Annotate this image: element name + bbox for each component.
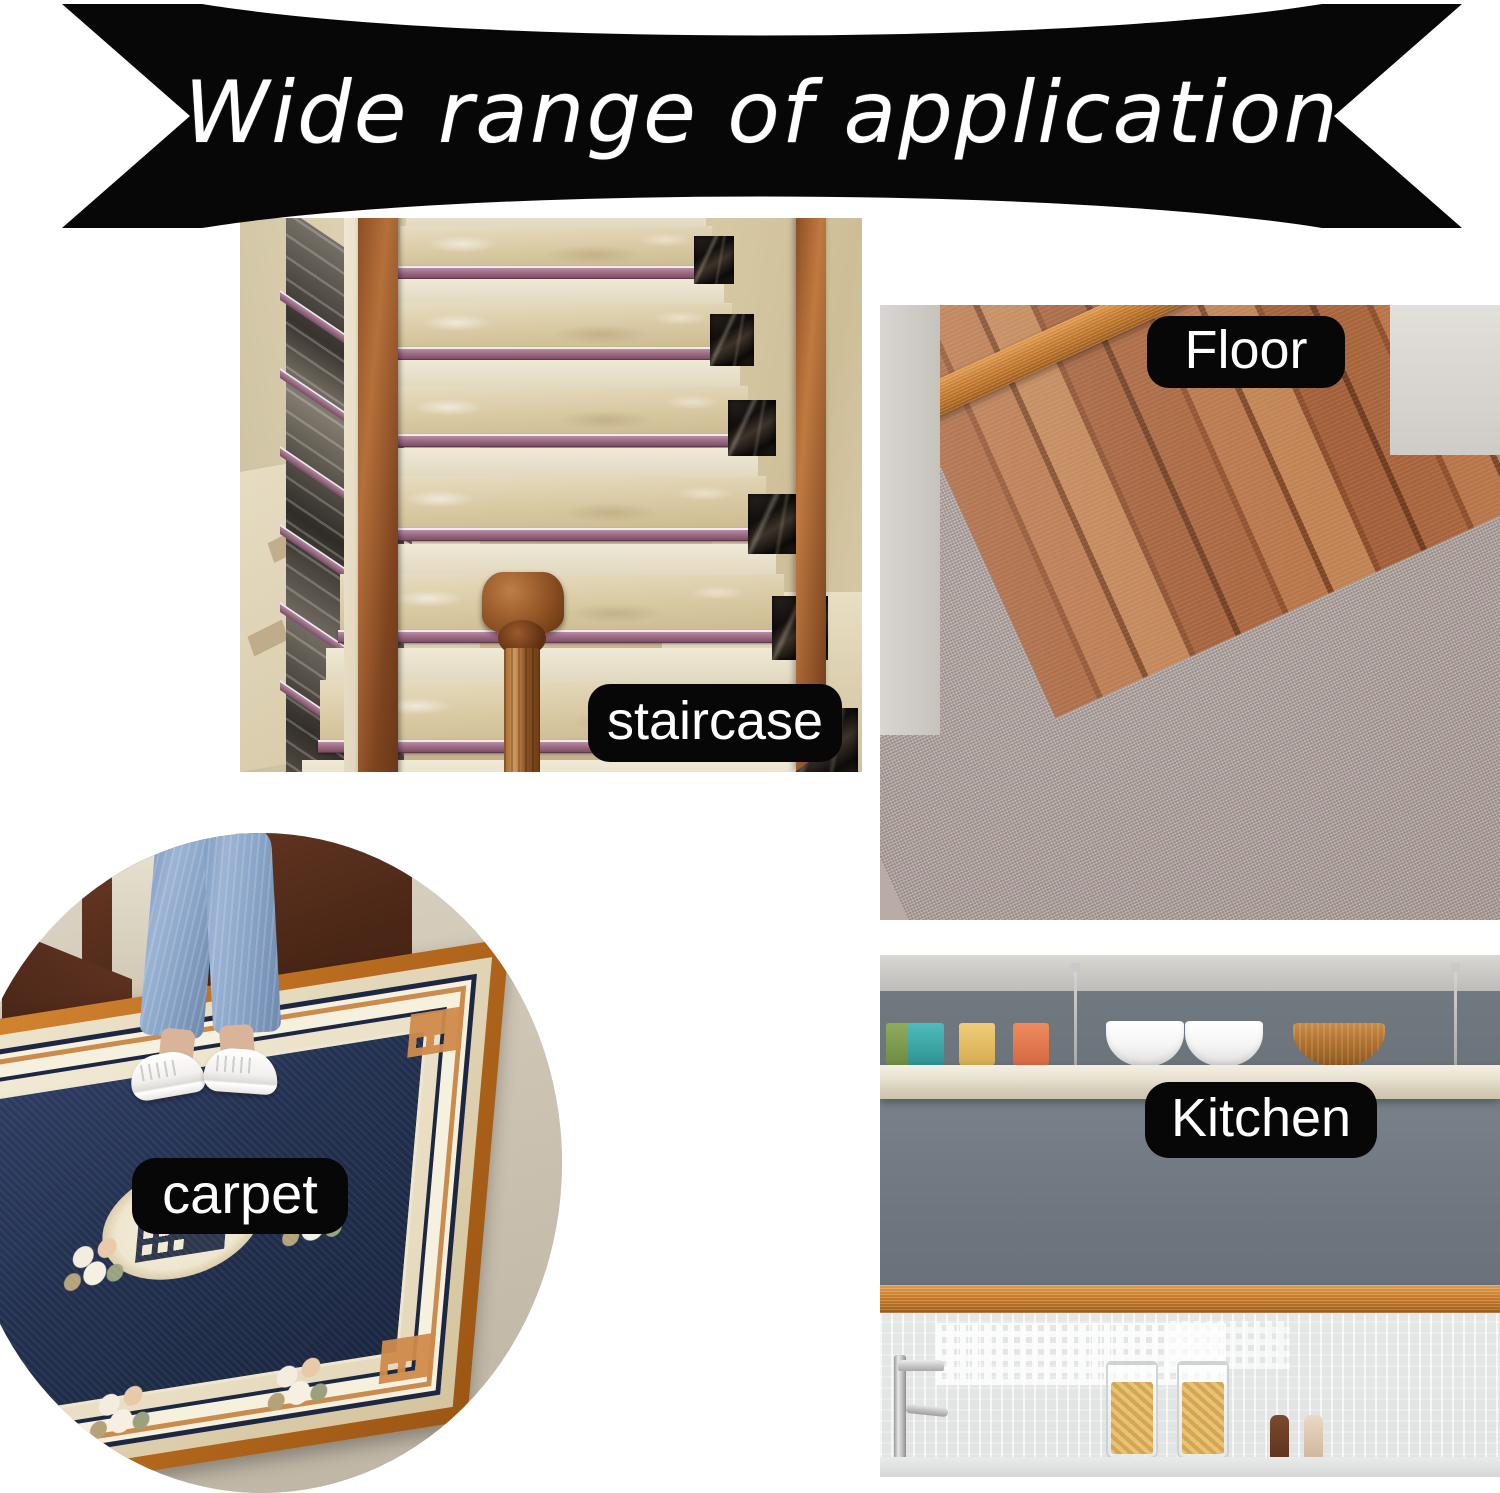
floor-photo — [880, 305, 1500, 920]
bowl-white-right — [1185, 1021, 1263, 1067]
stair-newel-post — [490, 572, 556, 772]
rug-floral-motif — [57, 1229, 136, 1306]
header-banner: Wide range of application — [62, 2, 1462, 230]
stair-marble-accent — [710, 314, 754, 366]
panel-floor — [880, 305, 1500, 920]
person-jeans-leg — [203, 833, 282, 1035]
bowl-white-left — [1106, 1021, 1184, 1067]
rug-floral-motif — [261, 1349, 340, 1426]
shelf-rod-cap — [1451, 963, 1460, 972]
infographic-stage: staircase Floor carpet Kitchen Wide rang… — [0, 0, 1500, 1477]
pasta-jar — [1106, 1361, 1158, 1459]
floor-left-wall — [880, 305, 940, 735]
rug-floral-motif — [83, 1377, 162, 1454]
badge-kitchen: Kitchen — [1145, 1082, 1377, 1158]
stair-marble-accent — [748, 494, 800, 554]
kitchen-wood-trim-strip — [880, 1285, 1500, 1313]
salt-shaker — [1304, 1415, 1323, 1459]
pepper-shaker — [1270, 1415, 1289, 1459]
bowl-wood — [1293, 1023, 1385, 1067]
stair-stringer — [358, 218, 398, 772]
badge-carpet: carpet — [132, 1158, 348, 1234]
cup-teal — [908, 1023, 944, 1067]
kitchen-ceiling — [880, 955, 1500, 991]
badge-floor: Floor — [1147, 316, 1345, 388]
cup-yellow — [959, 1023, 995, 1067]
banner-title: Wide range of application — [62, 2, 1462, 230]
stair-marble-accent — [728, 400, 776, 456]
stair-marble-accent — [694, 236, 734, 284]
shelf-rod-cap — [1071, 963, 1080, 972]
floor-background-wall — [1390, 305, 1500, 455]
rug-corner-key-motif — [407, 1006, 464, 1058]
kitchen-countertop — [880, 1457, 1500, 1477]
kitchen-photo — [880, 955, 1500, 1477]
rug-corner-key-motif — [379, 1333, 436, 1385]
pasta-jar — [1177, 1361, 1229, 1459]
cup-orange — [1013, 1023, 1049, 1067]
panel-kitchen — [880, 955, 1500, 1477]
badge-staircase: staircase — [588, 684, 842, 762]
kitchen-faucet-spout — [898, 1360, 944, 1371]
